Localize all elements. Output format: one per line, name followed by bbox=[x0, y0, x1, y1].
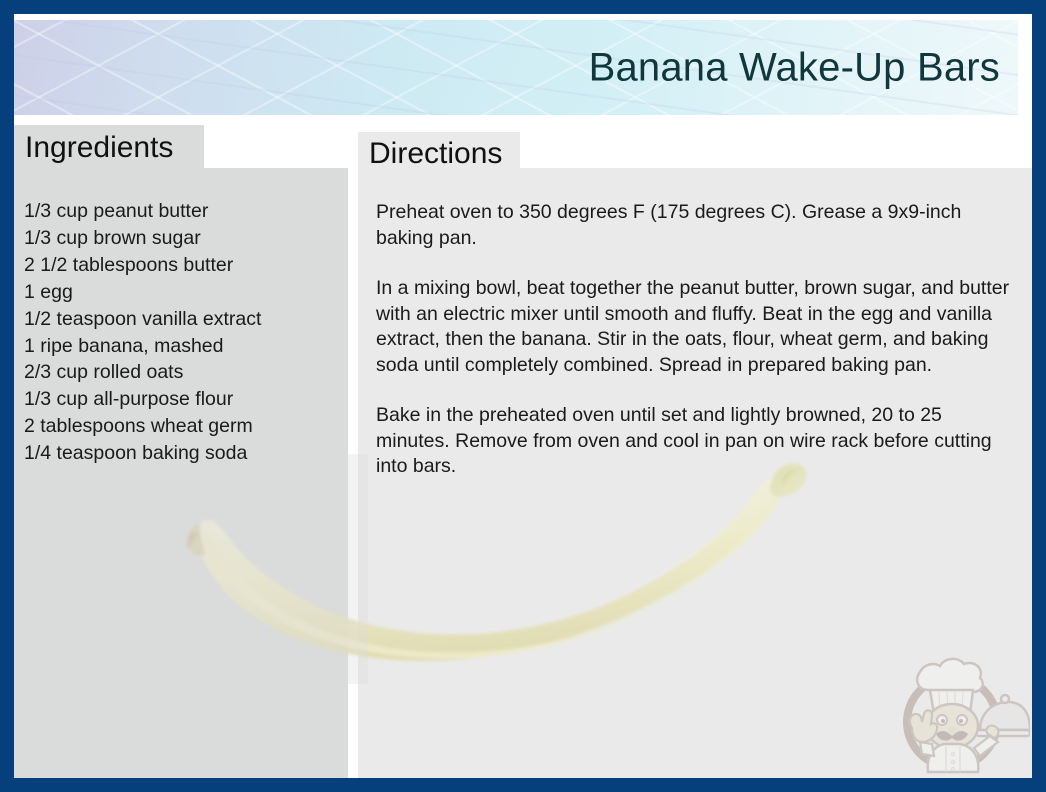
directions-panel: Preheat oven to 350 degrees F (175 degre… bbox=[358, 168, 1032, 778]
list-item: 1/3 cup brown sugar bbox=[24, 225, 344, 252]
ingredients-panel: 1/3 cup peanut butter 1/3 cup brown suga… bbox=[14, 168, 348, 778]
section-header-directions: Directions bbox=[358, 132, 520, 176]
section-header-ingredients: Ingredients bbox=[14, 125, 204, 170]
direction-step: Bake in the preheated oven until set and… bbox=[376, 403, 1020, 480]
list-item: 1/2 teaspoon vanilla extract bbox=[24, 306, 344, 333]
list-item: 1/3 cup peanut butter bbox=[24, 198, 344, 225]
header-banner: Banana Wake-Up Bars bbox=[14, 20, 1018, 115]
page-title: Banana Wake-Up Bars bbox=[589, 45, 1000, 90]
list-item: 1/4 teaspoon baking soda bbox=[24, 440, 344, 467]
list-item: 1 egg bbox=[24, 279, 344, 306]
direction-step: In a mixing bowl, beat together the pean… bbox=[376, 276, 1020, 378]
list-item: 2 tablespoons wheat germ bbox=[24, 413, 344, 440]
directions-text: Preheat oven to 350 degrees F (175 degre… bbox=[376, 200, 1020, 480]
list-item: 1/3 cup all-purpose flour bbox=[24, 386, 344, 413]
ingredients-list: 1/3 cup peanut butter 1/3 cup brown suga… bbox=[24, 198, 344, 467]
list-item: 2/3 cup rolled oats bbox=[24, 359, 344, 386]
recipe-page: Banana Wake-Up Bars 1/3 cup peanut butte… bbox=[14, 14, 1032, 778]
list-item: 2 1/2 tablespoons butter bbox=[24, 252, 344, 279]
recipe-card: Banana Wake-Up Bars 1/3 cup peanut butte… bbox=[0, 0, 1046, 792]
list-item: 1 ripe banana, mashed bbox=[24, 333, 344, 360]
direction-step: Preheat oven to 350 degrees F (175 degre… bbox=[376, 200, 1020, 251]
section-header-directions-label: Directions bbox=[369, 137, 502, 170]
section-header-ingredients-label: Ingredients bbox=[25, 131, 173, 164]
